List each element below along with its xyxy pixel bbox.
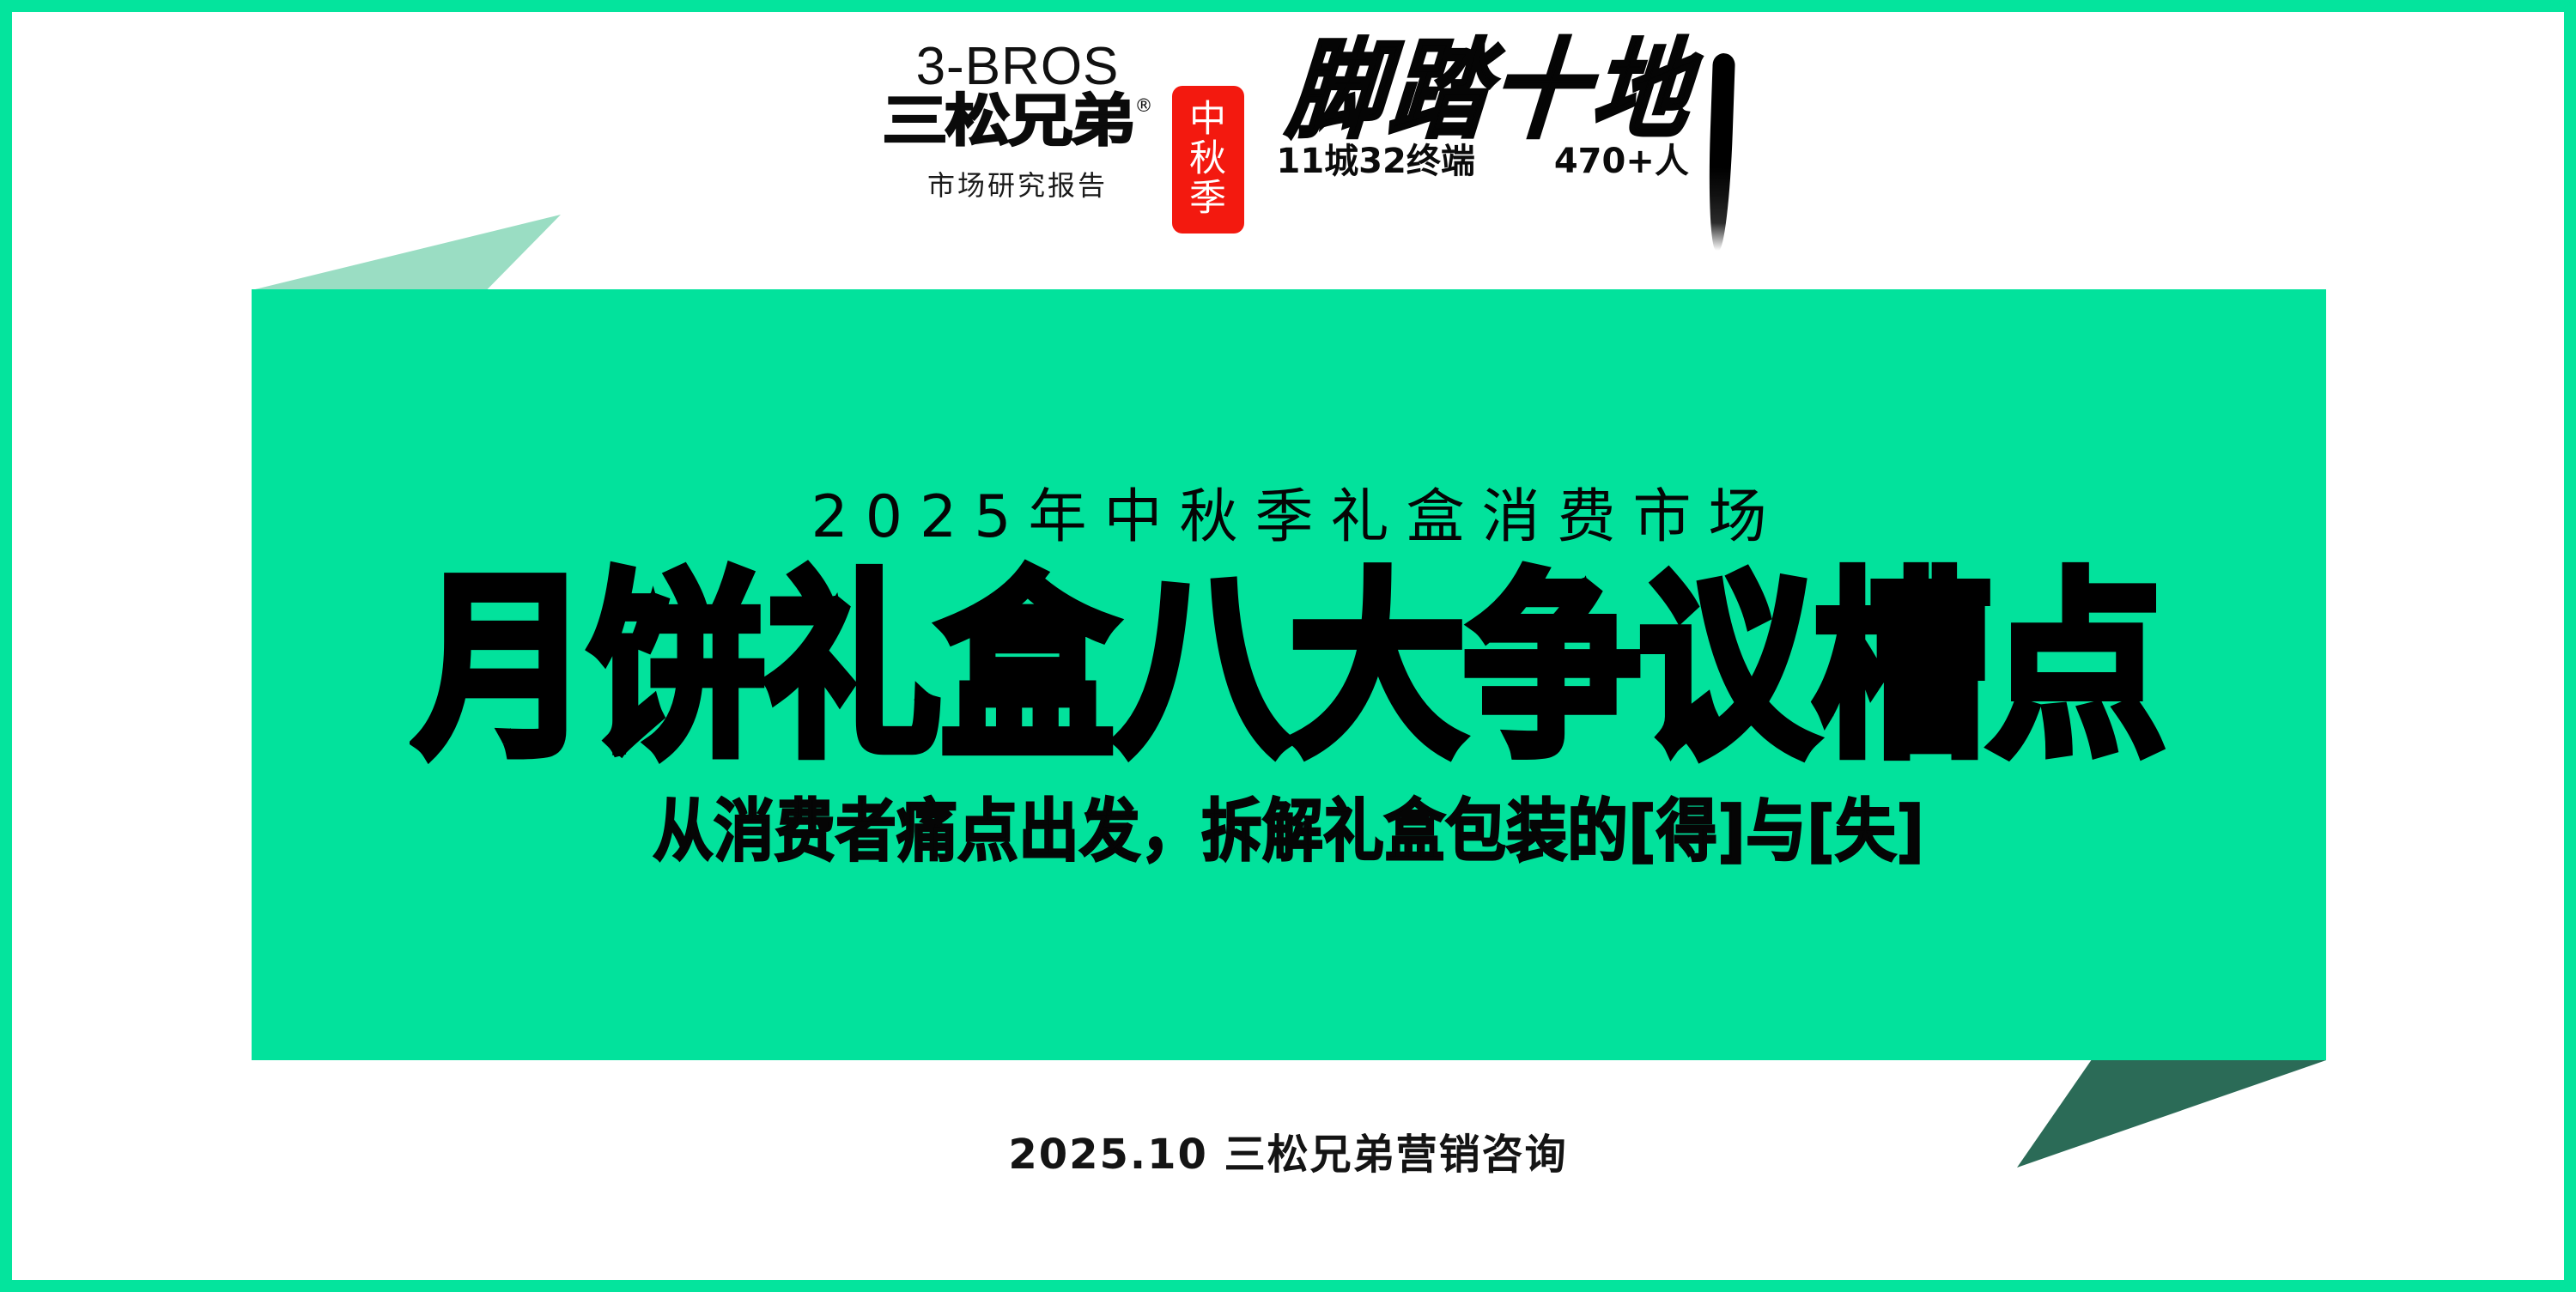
fieldwork-brush-lockup: 脚踏十地 11城32终端 470+人 — [1273, 38, 1694, 179]
badge-char-2: 秋 — [1189, 141, 1226, 179]
mid-autumn-season-badge: 中 秋 季 — [1172, 86, 1244, 234]
report-cover-page: 3-BROS 三松兄弟 ® 市场研究报告 中 秋 季 脚踏十地 11城32终端 … — [0, 0, 2576, 1292]
brand-logo: 3-BROS 三松兄弟 ® 市场研究报告 — [883, 38, 1153, 203]
page-title: 月饼礼盒八大争议槽点 — [414, 569, 2163, 767]
brand-logo-chinese: 三松兄弟 — [883, 92, 1133, 149]
badge-char-1: 中 — [1189, 101, 1226, 139]
hero-subtitle: 从消费者痛点出发，拆解礼盒包装的[得]与[失] — [653, 798, 1925, 864]
header-lockup: 3-BROS 三松兄弟 ® 市场研究报告 中 秋 季 脚踏十地 11城32终端 … — [0, 38, 2576, 261]
brush-calligraphy-title: 脚踏十地 — [1284, 37, 1698, 144]
brush-stroke-decoration — [1705, 53, 1735, 252]
badge-char-3: 季 — [1189, 180, 1226, 218]
hero-eyebrow: 2025年中秋季礼盒消费市场 — [793, 488, 1783, 547]
brand-logo-tagline: 市场研究报告 — [927, 164, 1108, 203]
registered-trademark-icon: ® — [1135, 97, 1153, 115]
footer-credit: 2025.10 三松兄弟营销咨询 — [0, 1120, 2576, 1180]
brand-logo-chinese-wrap: 三松兄弟 ® — [883, 92, 1153, 159]
brand-logo-english: 3-BROS — [916, 39, 1120, 94]
hero-content: 2025年中秋季礼盒消费市场 月饼礼盒八大争议槽点 从消费者痛点出发，拆解礼盒包… — [252, 289, 2326, 1060]
hero-green-band: 2025年中秋季礼盒消费市场 月饼礼盒八大争议槽点 从消费者痛点出发，拆解礼盒包… — [252, 289, 2326, 1060]
